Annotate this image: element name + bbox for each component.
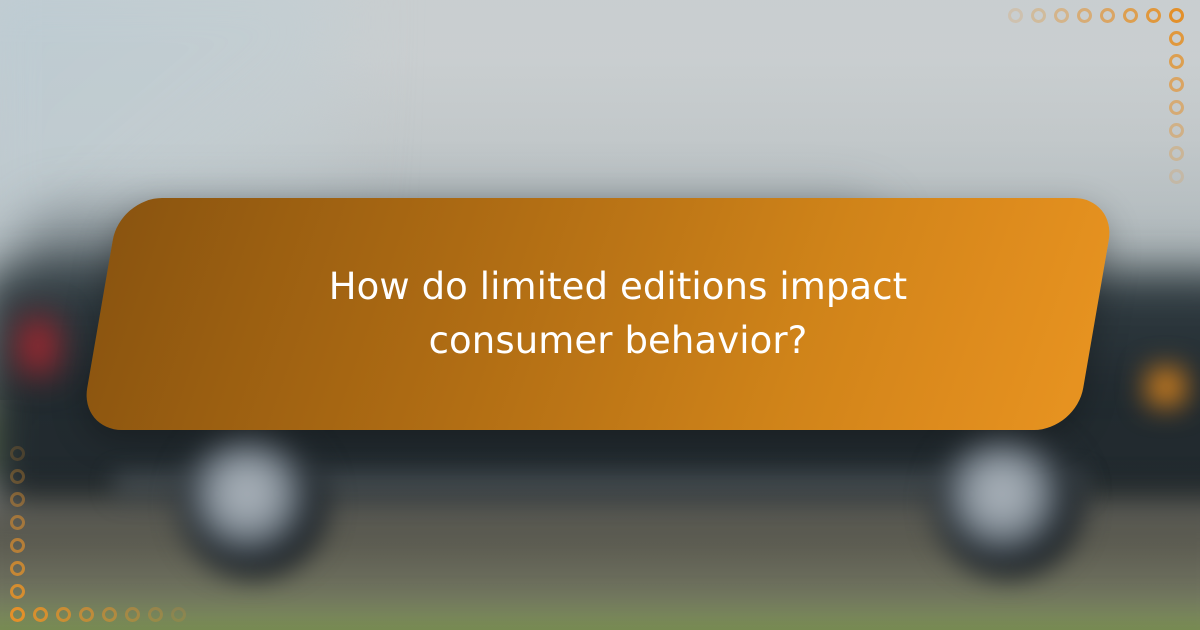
headline-card-content: How do limited editions impact consumer … <box>100 198 1096 430</box>
share-card-canvas: How do limited editions impact consumer … <box>0 0 1200 630</box>
headline-card: How do limited editions impact consumer … <box>100 198 1096 430</box>
page-title: How do limited editions impact consumer … <box>258 260 978 367</box>
